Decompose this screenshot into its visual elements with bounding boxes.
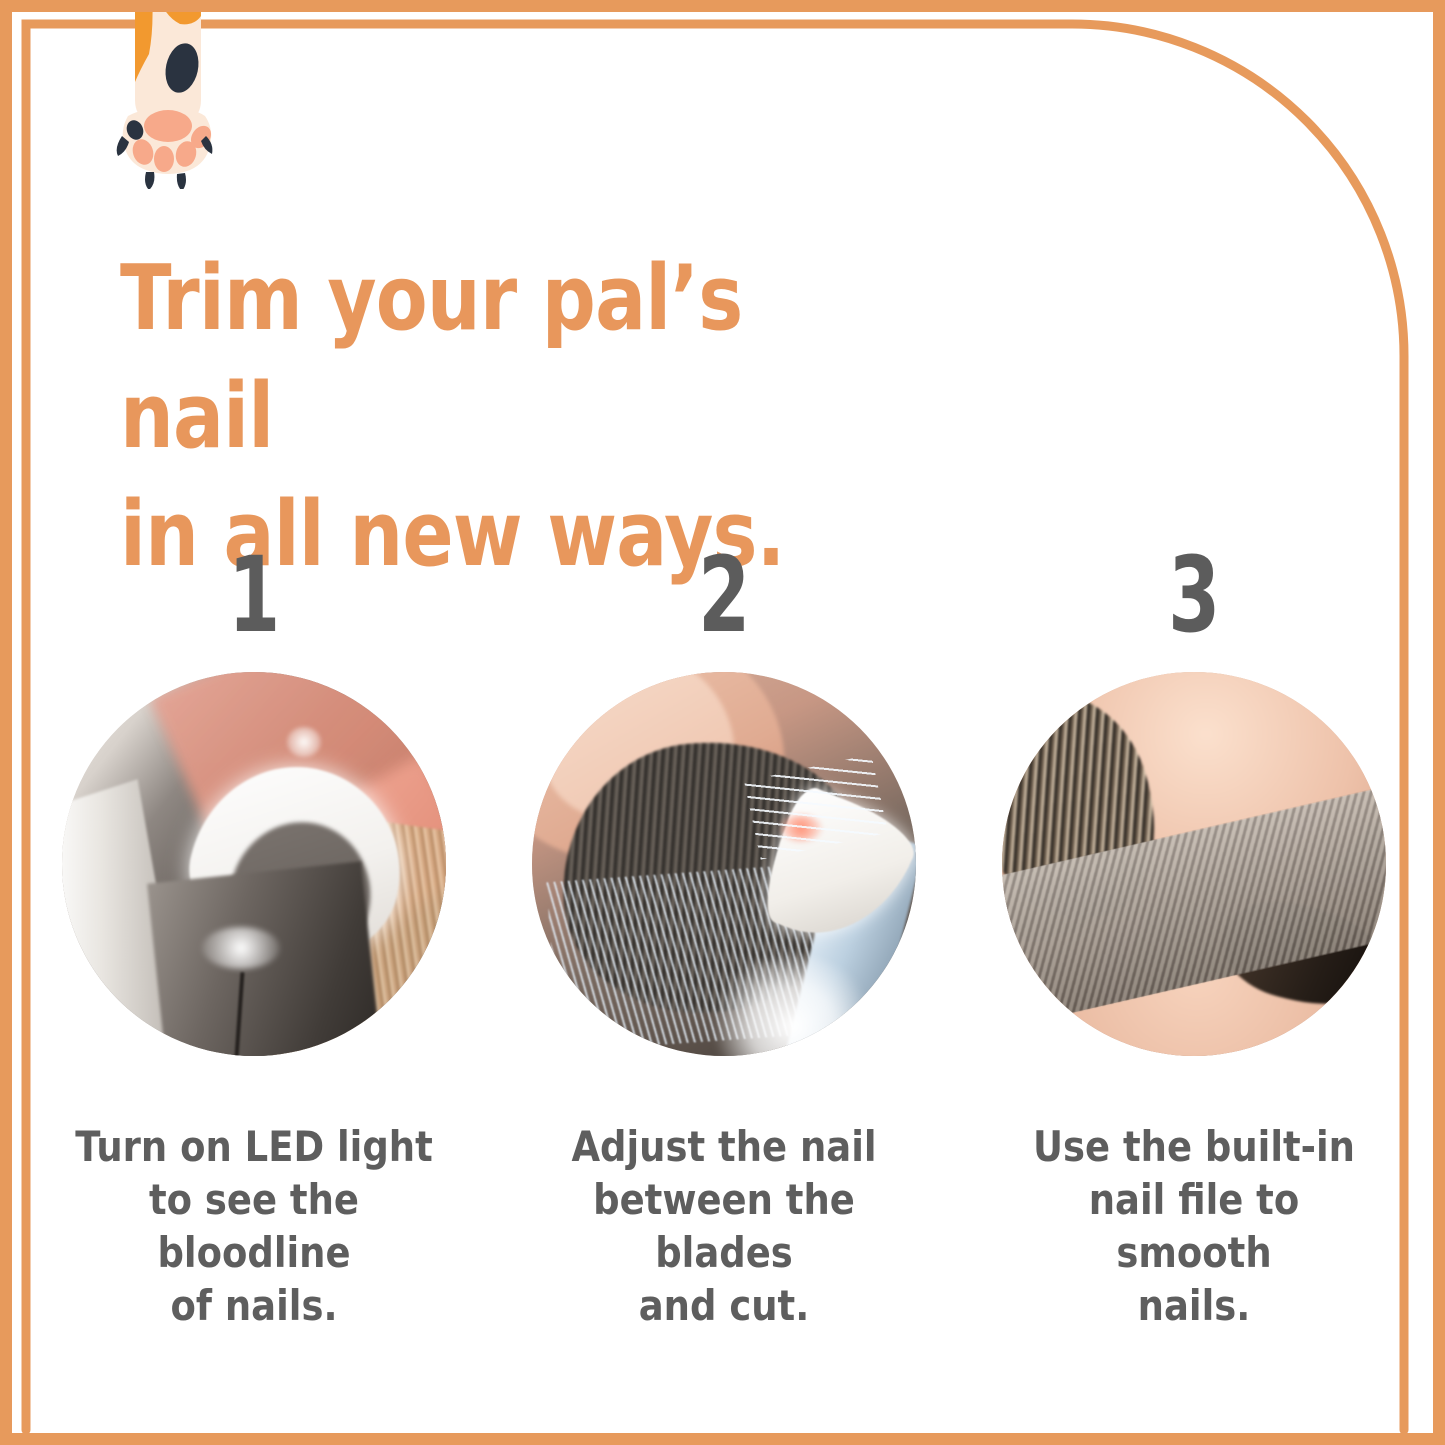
step-3: 3 Use the built-in nail file to smooth n…	[974, 542, 1414, 1332]
step-number-2: 2	[698, 542, 750, 654]
built-in-nail-file-photo	[1002, 672, 1386, 1056]
led-light-bloodline-photo	[62, 672, 446, 1056]
step-caption-2: Adjust the nail between the blades and c…	[539, 1120, 909, 1332]
step-number-3: 3	[1168, 542, 1220, 654]
step-number-1: 1	[228, 542, 280, 654]
poster-page: Trim your pal’s nail in all new ways. 1	[12, 12, 1433, 1433]
step-caption-1: Turn on LED light to see the bloodline o…	[69, 1120, 439, 1332]
nail-between-blades-photo	[532, 672, 916, 1056]
step-caption-3: Use the built-in nail file to smooth nai…	[1009, 1120, 1379, 1332]
poster-frame: Trim your pal’s nail in all new ways. 1	[0, 0, 1445, 1445]
step-2: 2 Adjust the nail between the blades and…	[504, 542, 944, 1332]
steps-row: 1 Turn on LED light to see the bloodline…	[34, 542, 1414, 1332]
cat-paw-icon	[102, 12, 232, 189]
step-1: 1 Turn on LED light to see the bloodline…	[34, 542, 474, 1332]
